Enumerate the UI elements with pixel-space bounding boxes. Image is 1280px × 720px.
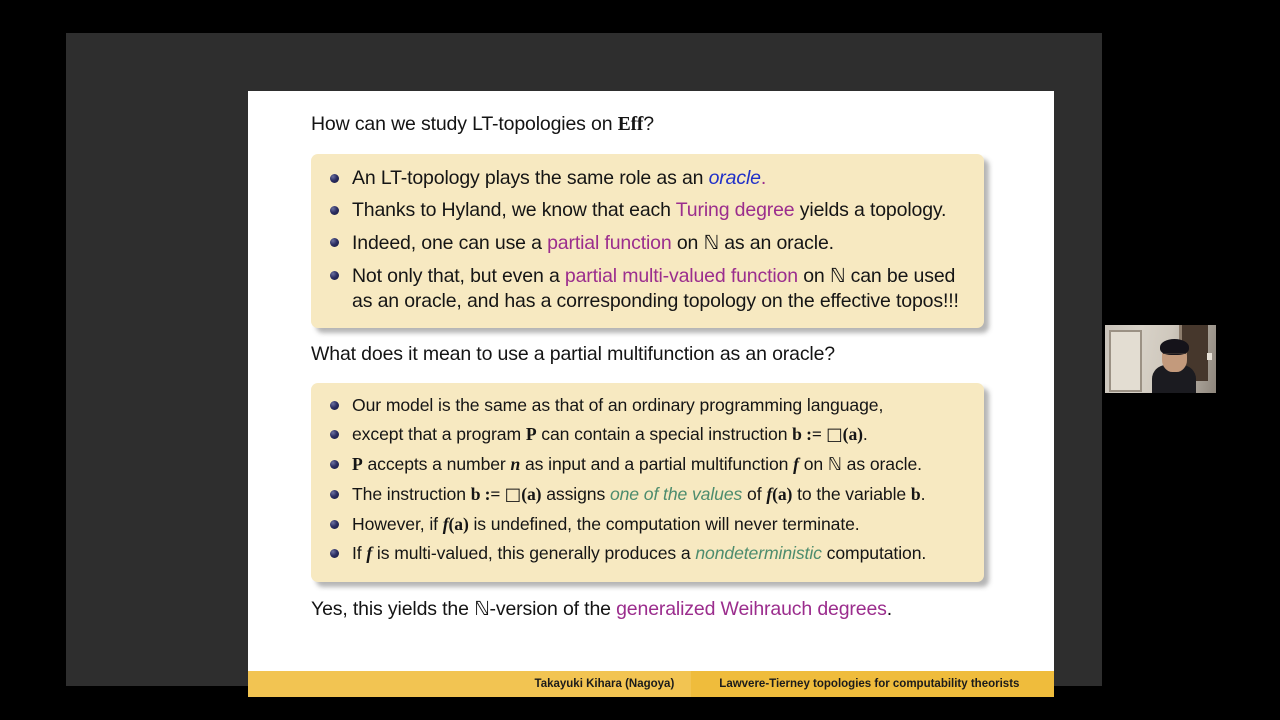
text-run: Not only that, but even a xyxy=(352,265,565,287)
text-run: . xyxy=(887,598,892,620)
screen-share-panel: How can we study LT-topologies on Eff? A… xyxy=(66,33,1102,686)
webcam-background-switch xyxy=(1207,353,1212,360)
text-run: Yes, this yields the xyxy=(311,598,474,620)
text-run: □ xyxy=(505,485,522,505)
bullet-hyland-turing-degree: Thanks to Hyland, we know that each Turi… xyxy=(327,198,968,224)
lead-conclusion: Yes, this yields the ℕ-version of the ge… xyxy=(311,596,1036,622)
content-block-2: Our model is the same as that of an ordi… xyxy=(311,383,984,581)
text-run: to the variable xyxy=(792,484,911,504)
text-run: ? xyxy=(643,113,654,135)
text-run: n xyxy=(510,454,520,474)
text-run: partial multi-valued function xyxy=(565,265,798,287)
text-run: □ xyxy=(826,425,843,445)
webcam-person-glasses xyxy=(1163,353,1186,360)
text-run: If xyxy=(352,543,366,563)
bullet-dot-icon xyxy=(330,430,339,439)
presenter-webcam-thumbnail[interactable] xyxy=(1105,325,1216,393)
lead-question-1: How can we study LT-topologies on Eff? xyxy=(311,112,1036,137)
text-run: on xyxy=(799,454,828,474)
text-run: oracle xyxy=(709,167,761,189)
text-run: However, if xyxy=(352,514,443,534)
text-run: accepts a number xyxy=(363,454,511,474)
text-run: . xyxy=(863,424,868,444)
text-run: of xyxy=(742,484,766,504)
bullet-dot-icon xyxy=(330,520,339,529)
text-run: nondeterministic xyxy=(695,543,822,563)
bullet-dot-icon xyxy=(330,238,339,247)
bullet-assigns-one-value: The instruction b := □(a) assigns one of… xyxy=(327,483,968,507)
webcam-background-panel xyxy=(1109,330,1142,392)
bullet-dot-icon xyxy=(330,206,339,215)
text-run: on xyxy=(798,265,830,287)
lead-question-2: What does it mean to use a partial multi… xyxy=(311,342,1036,367)
text-run: := xyxy=(480,484,504,504)
text-run: -version of the xyxy=(490,598,617,620)
text-run: as an oracle. xyxy=(719,232,834,254)
bullet-model-programming-language: Our model is the same as that of an ordi… xyxy=(327,394,968,417)
slide-footer: Takayuki Kihara (Nagoya) Lawvere-Tierney… xyxy=(248,671,1054,697)
footer-author: Takayuki Kihara (Nagoya) xyxy=(248,671,691,697)
bullet-dot-icon xyxy=(330,174,339,183)
text-run: ℕ xyxy=(703,231,718,254)
text-run: ℕ xyxy=(828,455,842,475)
text-run: (a) xyxy=(448,514,468,534)
text-run: Indeed, one can use a xyxy=(352,232,547,254)
bullet-dot-icon xyxy=(330,460,339,469)
text-run: ℕ xyxy=(830,264,845,287)
text-run: How can we study LT-topologies on xyxy=(311,113,618,135)
text-run: as oracle. xyxy=(842,454,922,474)
text-run: The instruction xyxy=(352,484,471,504)
text-run: one of the values xyxy=(610,484,742,504)
bullet-oracle-role: An LT-topology plays the same role as an… xyxy=(327,166,968,192)
bullet-dot-icon xyxy=(330,549,339,558)
text-run: computation. xyxy=(822,543,926,563)
text-run: . xyxy=(921,484,926,504)
content-block-1: An LT-topology plays the same role as an… xyxy=(311,154,984,328)
bullet-special-instruction: except that a program P can contain a sp… xyxy=(327,423,968,447)
text-run: Turing degree xyxy=(676,199,795,221)
bullet-dot-icon xyxy=(330,490,339,499)
bullet-partial-function: Indeed, one can use a partial function o… xyxy=(327,230,968,257)
text-run: ℕ xyxy=(474,597,489,620)
text-run: partial function xyxy=(547,232,671,254)
footer-title: Lawvere-Tierney topologies for computabi… xyxy=(691,671,1054,697)
text-run: b xyxy=(911,484,921,504)
text-run: P xyxy=(526,424,537,444)
text-run: is undefined, the computation will never… xyxy=(469,514,860,534)
bullet-nondeterministic: If f is multi-valued, this generally pro… xyxy=(327,542,968,565)
text-run: assigns xyxy=(541,484,610,504)
text-run: (a) xyxy=(772,484,792,504)
bullet-partial-multivalued-function: Not only that, but even a partial multi-… xyxy=(327,263,968,315)
text-run: yields a topology. xyxy=(795,199,947,221)
text-run: b xyxy=(471,484,481,504)
text-run: Eff xyxy=(618,114,644,135)
bullet-dot-icon xyxy=(330,401,339,410)
text-run: generalized Weihrauch degrees xyxy=(616,598,887,620)
text-run: is multi-valued, this generally produces… xyxy=(372,543,695,563)
text-run: except that a program xyxy=(352,424,526,444)
text-run: Our model is the same as that of an ordi… xyxy=(352,395,883,415)
text-run: Thanks to Hyland, we know that each xyxy=(352,199,676,221)
text-run: := xyxy=(802,424,826,444)
text-run: . xyxy=(761,167,766,189)
text-run: on xyxy=(672,232,704,254)
text-run: (a) xyxy=(521,484,541,504)
text-run: An LT-topology plays the same role as an xyxy=(352,167,709,189)
bullet-list-1: An LT-topology plays the same role as an… xyxy=(327,166,968,315)
bullet-list-2: Our model is the same as that of an ordi… xyxy=(327,394,968,564)
text-run: can contain a special instruction xyxy=(537,424,793,444)
bullet-dot-icon xyxy=(330,271,339,280)
text-run: P xyxy=(352,454,363,474)
text-run: a xyxy=(848,424,857,444)
presentation-slide: How can we study LT-topologies on Eff? A… xyxy=(248,91,1054,697)
text-run: b xyxy=(792,424,802,444)
slide-content: How can we study LT-topologies on Eff? A… xyxy=(248,91,1054,671)
bullet-undefined-never-terminate: However, if f(a) is undefined, the compu… xyxy=(327,513,968,536)
text-run: as input and a partial multifunction xyxy=(520,454,793,474)
bullet-accepts-number: P accepts a number n as input and a part… xyxy=(327,453,968,477)
